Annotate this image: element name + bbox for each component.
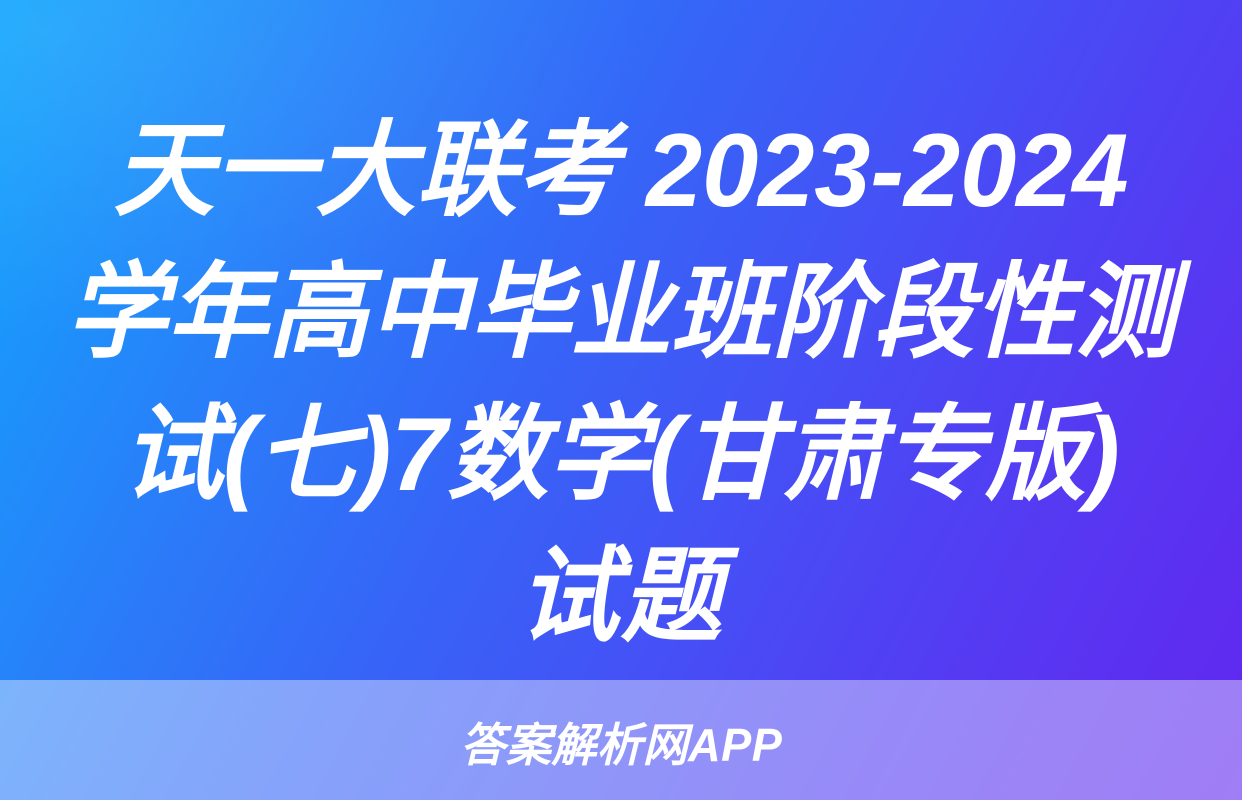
title-line-4: 试题 (54, 526, 1189, 668)
title-line-3: 试(七)7数学(甘肃专版) (54, 384, 1189, 526)
poster-title-block: 天一大联考 2023-2024 学年高中毕业班阶段性测 试(七)7数学(甘肃专版… (0, 100, 1242, 668)
title-line-2: 学年高中毕业班阶段性测 (54, 242, 1189, 384)
exam-title-poster: 天一大联考 2023-2024 学年高中毕业班阶段性测 试(七)7数学(甘肃专版… (0, 0, 1242, 800)
title-line-1: 天一大联考 2023-2024 (54, 100, 1189, 242)
watermark-label: 答案解析网APP (460, 719, 782, 771)
bottom-watermark-banner: 答案解析网APP (0, 680, 1242, 800)
